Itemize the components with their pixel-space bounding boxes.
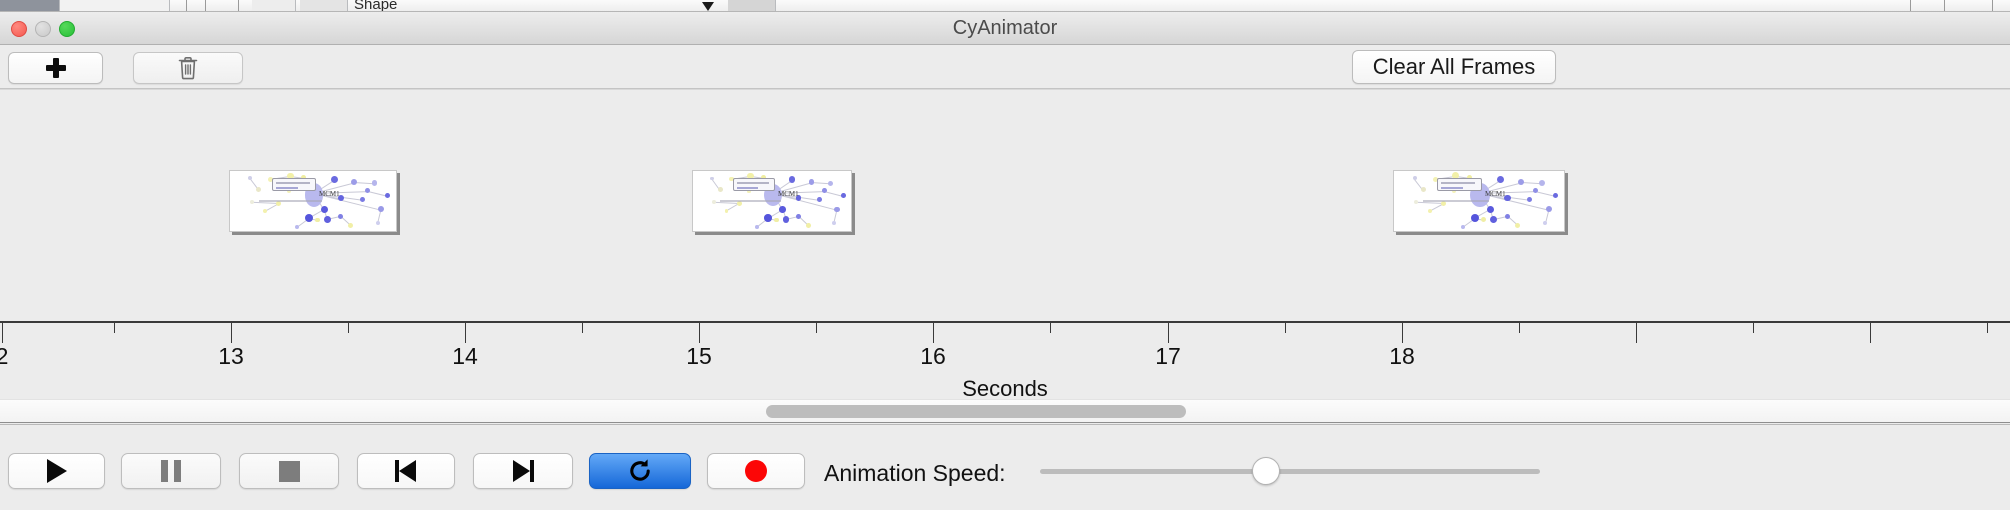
graph-node <box>1515 223 1520 228</box>
ruler-tick <box>114 323 115 333</box>
ruler-tick <box>1519 323 1520 333</box>
graph-node <box>1471 214 1479 222</box>
graph-node <box>305 214 313 222</box>
ruler-baseline <box>0 321 2010 323</box>
graph-node <box>841 193 846 198</box>
graph-node <box>1539 180 1545 186</box>
graph-node <box>1487 206 1494 213</box>
background-window-label: Shape <box>354 0 397 12</box>
graph-node-label: MCM1 <box>319 190 340 198</box>
pause-button[interactable] <box>121 453 221 489</box>
next-frame-button[interactable] <box>473 453 573 489</box>
graph-node-label: MCM1 <box>1485 190 1506 198</box>
toolbar: Clear All Frames <box>0 45 2010 89</box>
background-tick-icon <box>238 0 239 12</box>
animation-speed-slider[interactable] <box>1040 469 1540 474</box>
background-chip <box>0 0 60 12</box>
graph-tooltip <box>1437 178 1482 190</box>
timeline-frame-thumbnail[interactable]: MCM1 <box>229 170 397 232</box>
graph-node <box>1490 216 1497 223</box>
transport-bar: Animation Speed: <box>0 424 2010 510</box>
graph-node <box>1546 206 1552 212</box>
ruler-tick <box>1870 323 1871 343</box>
graph-node <box>789 176 796 183</box>
pause-icon <box>161 460 181 482</box>
ruler-tick <box>1285 323 1286 333</box>
background-tick-icon <box>186 0 187 12</box>
ruler-tick <box>231 323 232 343</box>
animation-speed-label: Animation Speed: <box>824 460 1006 487</box>
ruler-tick-label: 18 <box>1389 343 1415 370</box>
graph-node <box>376 221 380 225</box>
graph-node <box>360 197 365 202</box>
timeline-frame-thumbnail[interactable]: MCM1 <box>1393 170 1565 232</box>
loop-button[interactable] <box>589 453 691 489</box>
background-cursor-icon <box>702 2 714 11</box>
graph-node <box>1553 193 1558 198</box>
graph-node <box>1414 200 1418 204</box>
graph-tooltip <box>272 178 316 190</box>
graph-node <box>1533 188 1538 193</box>
background-chip <box>728 0 776 12</box>
graph-node <box>385 193 390 198</box>
timeline-panel[interactable]: MCM1 MCM1 MCM1 <box>0 89 2010 321</box>
graph-node <box>809 179 815 185</box>
window-title: CyAnimator <box>0 17 2010 40</box>
frame-network-preview: MCM1 <box>692 170 852 232</box>
graph-node <box>806 223 811 228</box>
graph-node <box>372 180 378 186</box>
skip-forward-icon <box>512 460 534 482</box>
skip-back-icon <box>395 460 417 482</box>
frame-network-preview: MCM1 <box>229 170 397 232</box>
ruler-tick <box>1168 323 1169 343</box>
play-icon <box>47 459 67 483</box>
record-button[interactable] <box>707 453 805 489</box>
graph-node <box>250 200 254 204</box>
graph-node <box>718 187 723 192</box>
frame-network-preview: MCM1 <box>1393 170 1565 232</box>
plus-icon <box>46 58 66 78</box>
graph-node <box>348 223 353 228</box>
play-button[interactable] <box>8 453 105 489</box>
timeline-scroll-thumb[interactable] <box>766 405 1186 418</box>
graph-node <box>832 221 836 225</box>
prev-frame-button[interactable] <box>357 453 455 489</box>
graph-node <box>764 214 772 222</box>
graph-node <box>712 200 716 204</box>
ruler-tick-label: 17 <box>1155 343 1181 370</box>
graph-node <box>256 187 261 192</box>
graph-node <box>817 197 822 202</box>
graph-node <box>1505 214 1510 219</box>
background-chip <box>252 0 296 12</box>
graph-node <box>834 207 840 213</box>
background-tick-icon <box>1944 0 1945 12</box>
ruler-tick <box>1753 323 1754 333</box>
graph-node <box>1481 217 1486 222</box>
cyanimator-window: Shape CyAnimator Clear All Frames <box>0 0 2010 510</box>
graph-node <box>822 188 827 193</box>
graph-node <box>378 206 384 212</box>
background-tick-icon <box>1910 0 1911 12</box>
graph-node <box>783 216 790 223</box>
timeline-scrollbar[interactable] <box>0 399 2010 423</box>
graph-caption <box>720 200 781 202</box>
graph-tooltip <box>733 178 775 190</box>
trash-icon <box>177 56 199 80</box>
graph-node <box>755 225 759 229</box>
title-bar: CyAnimator <box>0 12 2010 45</box>
graph-tooltip-line <box>737 187 758 189</box>
graph-node <box>1421 187 1426 192</box>
graph-tooltip-line <box>276 182 310 184</box>
graph-node <box>1461 225 1465 229</box>
background-chip <box>60 0 170 12</box>
record-icon <box>745 460 767 482</box>
ruler-tick <box>1636 323 1637 343</box>
clear-all-frames-button[interactable]: Clear All Frames <box>1352 50 1556 84</box>
graph-tooltip-line <box>276 187 298 189</box>
stop-button[interactable] <box>239 453 339 489</box>
ruler-tick-label: 15 <box>686 343 712 370</box>
graph-node <box>725 209 729 213</box>
graph-caption <box>259 200 323 202</box>
graph-node <box>321 206 328 213</box>
graph-caption <box>1423 200 1488 202</box>
background-window-strip: Shape <box>0 0 2010 12</box>
graph-node <box>263 209 267 213</box>
timeline-frame-thumbnail[interactable]: MCM1 <box>692 170 852 232</box>
graph-node <box>774 218 779 223</box>
ruler-tick <box>816 323 817 333</box>
slider-thumb[interactable] <box>1252 457 1280 485</box>
graph-node <box>331 176 338 183</box>
background-chip <box>300 0 348 12</box>
graph-node <box>1428 209 1432 213</box>
graph-tooltip-line <box>1441 182 1475 184</box>
slider-track[interactable] <box>1040 469 1540 474</box>
graph-node-label: MCM1 <box>778 190 799 198</box>
loop-icon <box>626 457 654 485</box>
graph-node <box>1527 197 1532 202</box>
ruler-tick <box>1050 323 1051 333</box>
ruler-tick <box>348 323 349 333</box>
ruler-tick <box>582 323 583 333</box>
ruler-tick <box>1402 323 1403 343</box>
graph-node <box>324 216 331 223</box>
ruler-tick <box>1987 323 1988 333</box>
ruler-tick-label: 14 <box>452 343 478 370</box>
ruler-tick-label: 16 <box>920 343 946 370</box>
ruler-tick-label: 13 <box>218 343 244 370</box>
timeline-ruler: 2131415161718 Seconds <box>0 321 2010 399</box>
ruler-tick <box>2 323 3 343</box>
graph-node <box>779 206 786 213</box>
graph-tooltip-line <box>737 182 769 184</box>
graph-node <box>1518 179 1524 185</box>
graph-node <box>295 225 299 229</box>
background-tick-icon <box>1992 0 1993 12</box>
graph-node <box>828 181 834 187</box>
ruler-tick-label: 2 <box>0 343 8 370</box>
graph-node <box>1543 221 1547 225</box>
graph-node <box>796 214 801 219</box>
background-tick-icon <box>205 0 206 12</box>
ruler-tick <box>699 323 700 343</box>
graph-node <box>315 218 320 223</box>
graph-node <box>351 179 357 185</box>
ruler-tick <box>933 323 934 343</box>
stop-icon <box>279 461 300 482</box>
graph-tooltip-line <box>1441 187 1463 189</box>
ruler-tick <box>465 323 466 343</box>
add-frame-button[interactable] <box>8 52 103 84</box>
graph-node <box>1497 176 1504 183</box>
delete-frame-button[interactable] <box>133 52 243 84</box>
